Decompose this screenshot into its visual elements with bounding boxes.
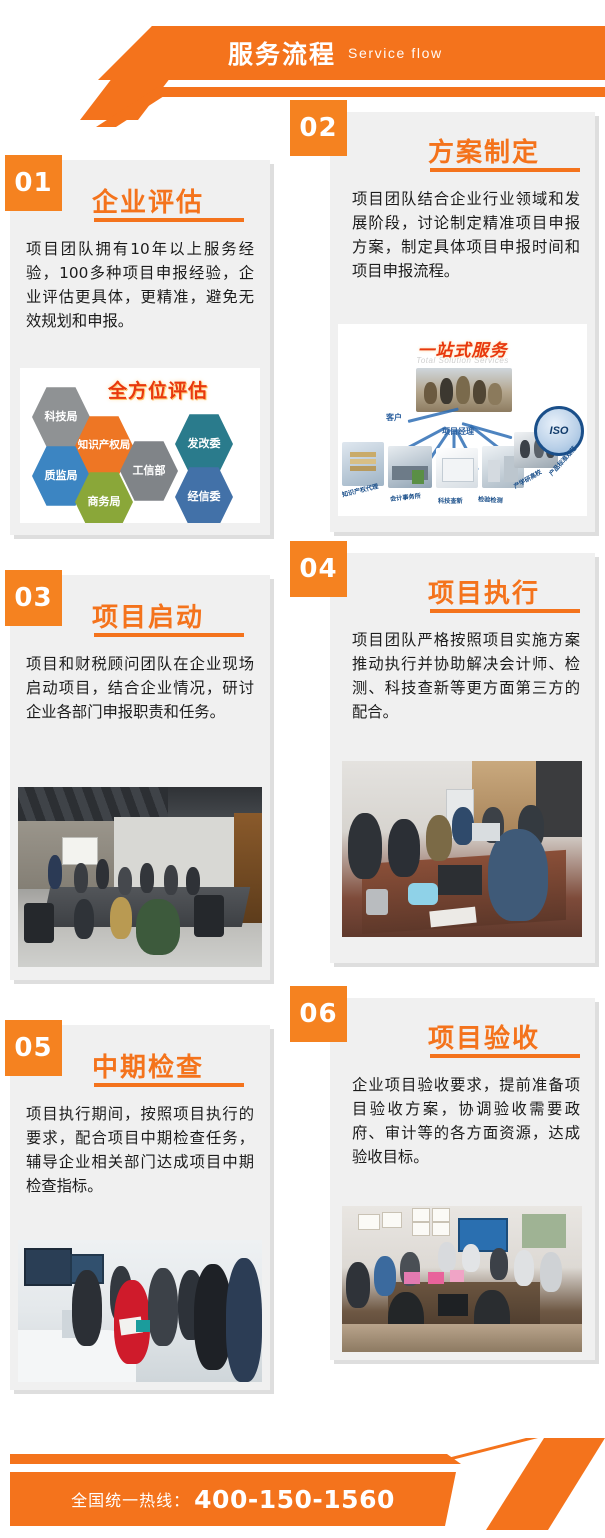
conference-presentation-photo (342, 1206, 582, 1352)
card-06-title: 项目验收 (428, 1018, 540, 1055)
header-title-group: 服务流程 Service flow (0, 26, 605, 80)
card-04-badge: 04 (290, 541, 347, 597)
card-04-title: 项目执行 (428, 573, 540, 610)
page-title: 服务流程 (228, 35, 336, 71)
card-05-badge: 05 (5, 1020, 62, 1076)
card-03-body: 项目和财税顾问团队在企业现场启动项目，结合企业情况，研讨企业各部门申报职责和任务… (26, 653, 254, 725)
card-05-title: 中期检查 (92, 1047, 204, 1084)
card-03-badge: 03 (5, 570, 62, 626)
card-05[interactable]: 中期检查 项目执行期间，按照项目执行的要求，配合项目中期检查任务，辅导企业相关部… (10, 1025, 270, 1390)
card-04-title-rule (430, 609, 580, 613)
card-06-body: 企业项目验收要求，提前准备项目验收方案，协调验收需要政府、审计等的各方面资源，达… (352, 1074, 580, 1169)
card-04[interactable]: 项目执行 项目团队严格按照项目实施方案推动执行并协助解决会计师、检测、科技查新等… (330, 553, 595, 963)
workshop-table-photo (342, 761, 582, 937)
card-03-title-rule (94, 633, 244, 637)
page-subtitle: Service flow (348, 45, 443, 61)
hexagon-chart-title: 全方位评估 (108, 376, 208, 403)
card-01-title: 企业评估 (92, 182, 204, 219)
service-flow-page: 服务流程 Service flow 企业评估 项目团队拥有10年以上服务经验，1… (0, 0, 605, 1538)
hotline-number: 400-150-1560 (194, 1485, 395, 1514)
oss-label-2: 会计事务所 (390, 491, 422, 503)
oss-label-3: 科技查新 (438, 496, 463, 505)
card-02-body: 项目团队结合企业行业领域和发展阶段，讨论制定精准项目申报方案，制定具体项目申报时… (352, 188, 580, 283)
card-02-title: 方案制定 (428, 132, 540, 169)
page-footer: 全国统一热线： 400-150-1560 (0, 1408, 605, 1538)
oss-node-manager: 项目经理 (442, 426, 474, 437)
card-02-badge: 02 (290, 100, 347, 156)
card-01-title-rule (94, 218, 244, 222)
card-05-body: 项目执行期间，按照项目执行的要求，配合项目中期检查任务，辅导企业相关部门达成项目… (26, 1103, 254, 1198)
card-01-body: 项目团队拥有10年以上服务经验，100多种项目申报经验，企业评估更具体，更精准，… (26, 238, 254, 333)
card-01[interactable]: 企业评估 项目团队拥有10年以上服务经验，100多种项目申报经验，企业评估更具体… (10, 160, 270, 535)
card-03[interactable]: 项目启动 项目和财税顾问团队在企业现场启动项目，结合企业情况，研讨企业各部门申报… (10, 575, 270, 980)
card-06[interactable]: 项目验收 企业项目验收要求，提前准备项目验收方案，协调验收需要政府、审计等的各方… (330, 998, 595, 1360)
oss-branch-photo-3 (436, 448, 478, 488)
card-03-title: 项目启动 (92, 597, 204, 634)
card-01-badge: 01 (5, 155, 62, 211)
card-06-badge: 06 (290, 986, 347, 1042)
footer-thin-stripe (10, 1454, 605, 1464)
header-thin-stripe (0, 87, 605, 97)
showroom-visit-photo (18, 1240, 262, 1382)
card-02[interactable]: 方案制定 项目团队结合企业行业领域和发展阶段，讨论制定精准项目申报方案，制定具体… (330, 112, 595, 532)
card-04-body: 项目团队严格按照项目实施方案推动执行并协助解决会计师、检测、科技查新等更方面第三… (352, 629, 580, 724)
hotline-group[interactable]: 全国统一热线： 400-150-1560 (10, 1472, 456, 1526)
card-06-title-rule (430, 1054, 580, 1058)
oss-subtitle: Total Solution Services (338, 356, 587, 365)
meeting-room-photo (18, 787, 262, 967)
oss-branch-photo-2 (388, 446, 432, 488)
oss-node-customer: 客户 (386, 412, 402, 423)
card-02-title-rule (430, 168, 580, 172)
oss-center-photo (416, 368, 512, 412)
oss-branch-photo-1 (342, 442, 384, 486)
one-stop-service-diagram: 一站式服务 Total Solution Services 客户 项目经理 (338, 324, 587, 516)
card-05-title-rule (94, 1083, 244, 1087)
hotline-label: 全国统一热线： (71, 1487, 190, 1511)
oss-label-4: 检验检测 (478, 494, 503, 505)
hexagon-node-fagai: 发改委 (175, 413, 233, 475)
hexagon-chart: 全方位评估 科技局 知识产权局 质监局 商务局 工信部 发改委 经信委 (20, 368, 260, 523)
hexagon-node-jingxin: 经信委 (175, 466, 233, 523)
